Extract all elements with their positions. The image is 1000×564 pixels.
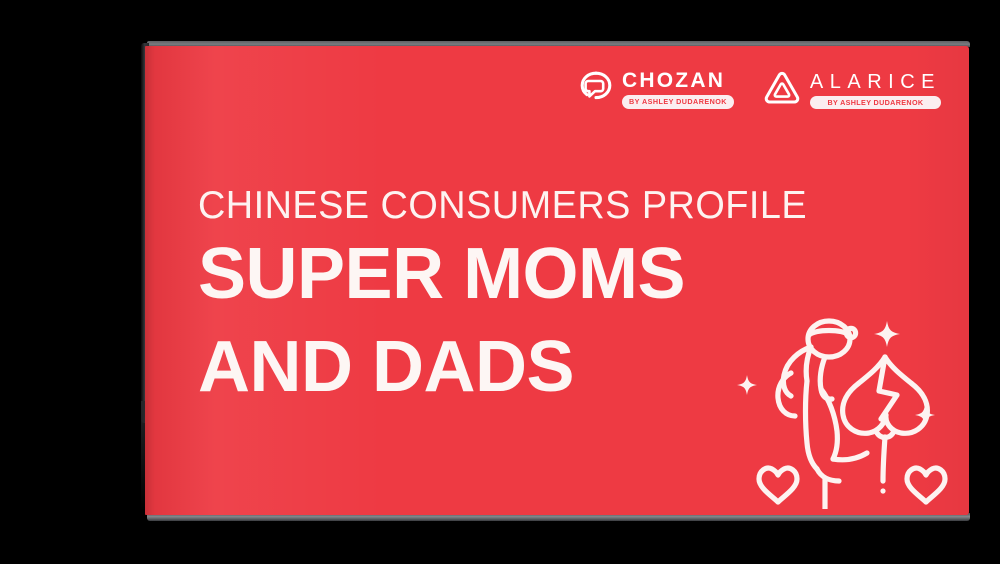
chozan-wordmark: CHOZAN xyxy=(622,70,734,91)
sparkle-left-icon xyxy=(737,375,757,395)
alarice-text-column: ALARICE BY ASHLEY DUDARENOK xyxy=(810,72,941,109)
parent-back xyxy=(806,381,818,469)
chozan-text-column: CHOZAN BY ASHLEY DUDARENOK xyxy=(622,70,734,108)
child-cap-brim xyxy=(809,331,849,336)
parent-arm xyxy=(833,453,867,460)
logo-chozan[interactable]: CHOZAN BY ASHLEY DUDARENOK xyxy=(576,70,734,109)
alarice-wordmark: ALARICE xyxy=(810,72,941,92)
balloon-string-dot xyxy=(880,488,885,493)
chozan-byline-pill: BY ASHLEY DUDARENOK xyxy=(622,95,734,108)
alarice-byline-pill: BY ASHLEY DUDARENOK xyxy=(810,96,941,109)
child-head xyxy=(808,321,850,357)
child-torso xyxy=(806,347,811,381)
balloon-left-lobe xyxy=(843,357,886,433)
heart-right-icon xyxy=(907,468,945,502)
cover-eyebrow: CHINESE CONSUMERS PROFILE xyxy=(198,186,858,225)
logo-alarice[interactable]: ALARICE BY ASHLEY DUDARENOK xyxy=(762,70,941,111)
sparkle-right-icon xyxy=(915,405,935,425)
book-cover-card: CHOZAN BY ASHLEY DUDARENOK ALARICE BY AS… xyxy=(141,41,970,521)
sparkle-top-icon xyxy=(874,321,900,347)
book-cover-front: CHOZAN BY ASHLEY DUDARENOK ALARICE BY AS… xyxy=(145,46,969,515)
parent-leg-upper xyxy=(817,469,839,481)
chozan-speech-bubble-icon xyxy=(576,70,614,109)
logo-row: CHOZAN BY ASHLEY DUDARENOK ALARICE BY AS… xyxy=(576,70,941,111)
heart-left-icon xyxy=(759,468,797,502)
alarice-triangle-icon xyxy=(762,70,802,111)
balloon-string xyxy=(883,437,885,481)
parent-carrying-child-illustration xyxy=(729,299,959,509)
screenshot-stage: CHOZAN BY ASHLEY DUDARENOK ALARICE BY AS… xyxy=(0,0,1000,564)
parent-front xyxy=(821,389,837,459)
